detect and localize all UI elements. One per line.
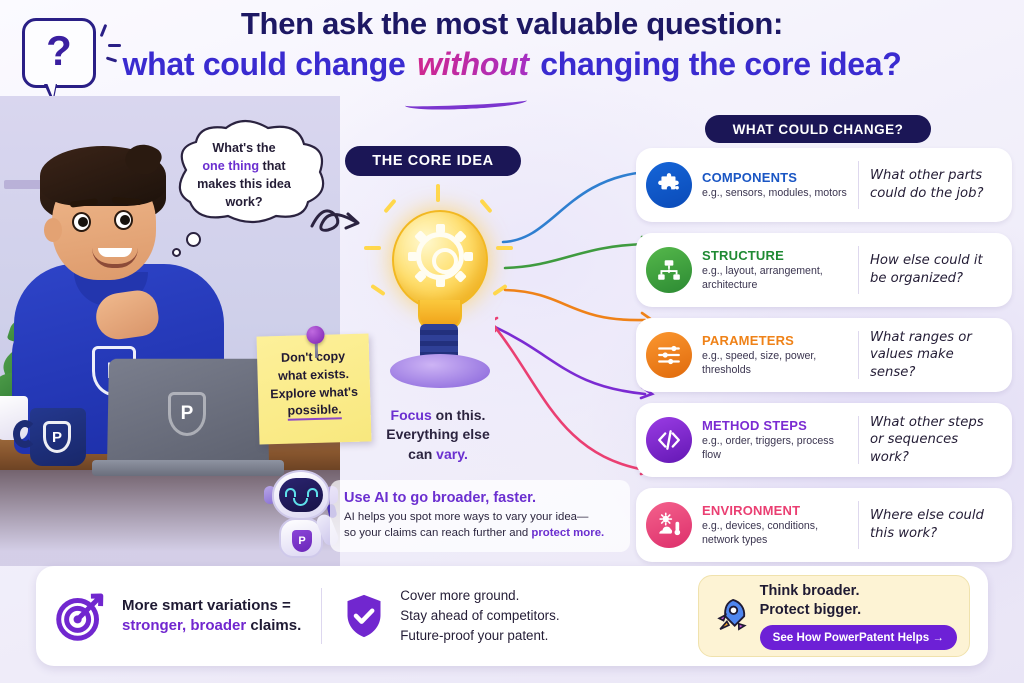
lightbulb-base — [390, 354, 490, 388]
sliders-icon — [646, 332, 692, 378]
hierarchy-org-chart-icon — [646, 247, 692, 293]
ai-callout: Use AI to go broader, faster. AI helps y… — [330, 480, 630, 552]
footer-benefits-text: Cover more ground. Stay ahead of competi… — [400, 586, 559, 645]
what-could-change-badge: WHAT COULD CHANGE? — [705, 115, 931, 143]
pushpin-icon — [306, 326, 324, 344]
card-parameters[interactable]: PARAMETERS e.g., speed, size, power, thr… — [636, 318, 1012, 392]
card-method-steps[interactable]: METHOD STEPS e.g., order, triggers, proc… — [636, 403, 1012, 477]
card-components[interactable]: COMPONENTS e.g., sensors, modules, motor… — [636, 148, 1012, 222]
underline-swoosh — [404, 94, 526, 111]
cta-heading: Think broader. Protect bigger. — [760, 582, 957, 620]
infographic-canvas: ? Then ask the most valuable question: w… — [0, 0, 1024, 683]
card-question: What other parts could do the job? — [870, 167, 1000, 202]
headline-part-b: changing the core idea? — [532, 46, 902, 82]
thought-emphasis: one thing — [202, 159, 259, 173]
see-how-powerpatent-helps-button[interactable]: See How PowerPatent Helps → — [760, 625, 957, 650]
headline-line-1: Then ask the most valuable question: — [0, 6, 1024, 43]
headline-line-2: what could change without changing the c… — [123, 45, 902, 83]
headline-emphasis-without: without — [414, 46, 532, 82]
card-title: ENVIRONMENT — [702, 503, 854, 518]
footer-bar: More smart variations = stronger, broade… — [36, 566, 988, 666]
footer-item-variations: More smart variations = stronger, broade… — [54, 589, 301, 643]
card-desc: e.g., layout, arrangement, architecture — [702, 265, 854, 293]
lightbulb-graphic — [368, 196, 508, 406]
page-header: Then ask the most valuable question: wha… — [0, 6, 1024, 83]
card-title: COMPONENTS — [702, 170, 854, 185]
card-question: What ranges or values make sense? — [870, 329, 1000, 382]
card-title: STRUCTURE — [702, 248, 854, 263]
card-question: What other steps or sequences work? — [870, 414, 1000, 467]
card-environment[interactable]: ENVIRONMENT e.g., devices, conditions, n… — [636, 488, 1012, 562]
card-desc: e.g., sensors, modules, motors — [702, 187, 854, 201]
change-category-list: COMPONENTS e.g., sensors, modules, motor… — [636, 148, 1012, 573]
footer-variations-text: More smart variations = stronger, broade… — [122, 596, 301, 637]
card-title: METHOD STEPS — [702, 418, 854, 433]
card-title: PARAMETERS — [702, 333, 854, 348]
ai-callout-title: Use AI to go broader, faster. — [344, 490, 616, 506]
footer-item-benefits: Cover more ground. Stay ahead of competi… — [342, 586, 559, 645]
card-structure[interactable]: STRUCTURE e.g., layout, arrangement, arc… — [636, 233, 1012, 307]
weather-environment-icon — [646, 502, 692, 548]
headline-part-a: what could change — [123, 46, 415, 82]
card-desc: e.g., order, triggers, process flow — [702, 435, 854, 463]
card-question: How else could it be organized? — [870, 252, 1000, 287]
card-question: Where else could this work? — [870, 507, 1000, 542]
coffee-mug: P — [30, 408, 86, 466]
target-bullseye-icon — [54, 589, 108, 643]
thought-bubble-text: What's the one thing that makes this ide… — [168, 140, 320, 212]
rocket-icon — [711, 587, 752, 645]
shield-check-icon — [342, 591, 386, 641]
code-brackets-icon — [646, 417, 692, 463]
card-desc: e.g., speed, size, power, thresholds — [702, 350, 854, 378]
robot-logo-badge: P — [292, 530, 312, 552]
cta-panel[interactable]: Think broader. Protect bigger. See How P… — [698, 575, 970, 657]
card-desc: e.g., devices, conditions, network types — [702, 520, 854, 548]
sticky-note: Don't copy what exists. Explore what's p… — [257, 333, 372, 444]
sticky-note-text: Don't copy what exists. Explore what's p… — [263, 348, 365, 422]
curly-arrow-icon — [306, 196, 366, 246]
thought-dot-small — [172, 248, 181, 257]
puzzle-piece-icon — [646, 162, 692, 208]
ai-callout-body: AI helps you spot more ways to vary your… — [344, 509, 616, 541]
thought-dot-large — [186, 232, 201, 247]
